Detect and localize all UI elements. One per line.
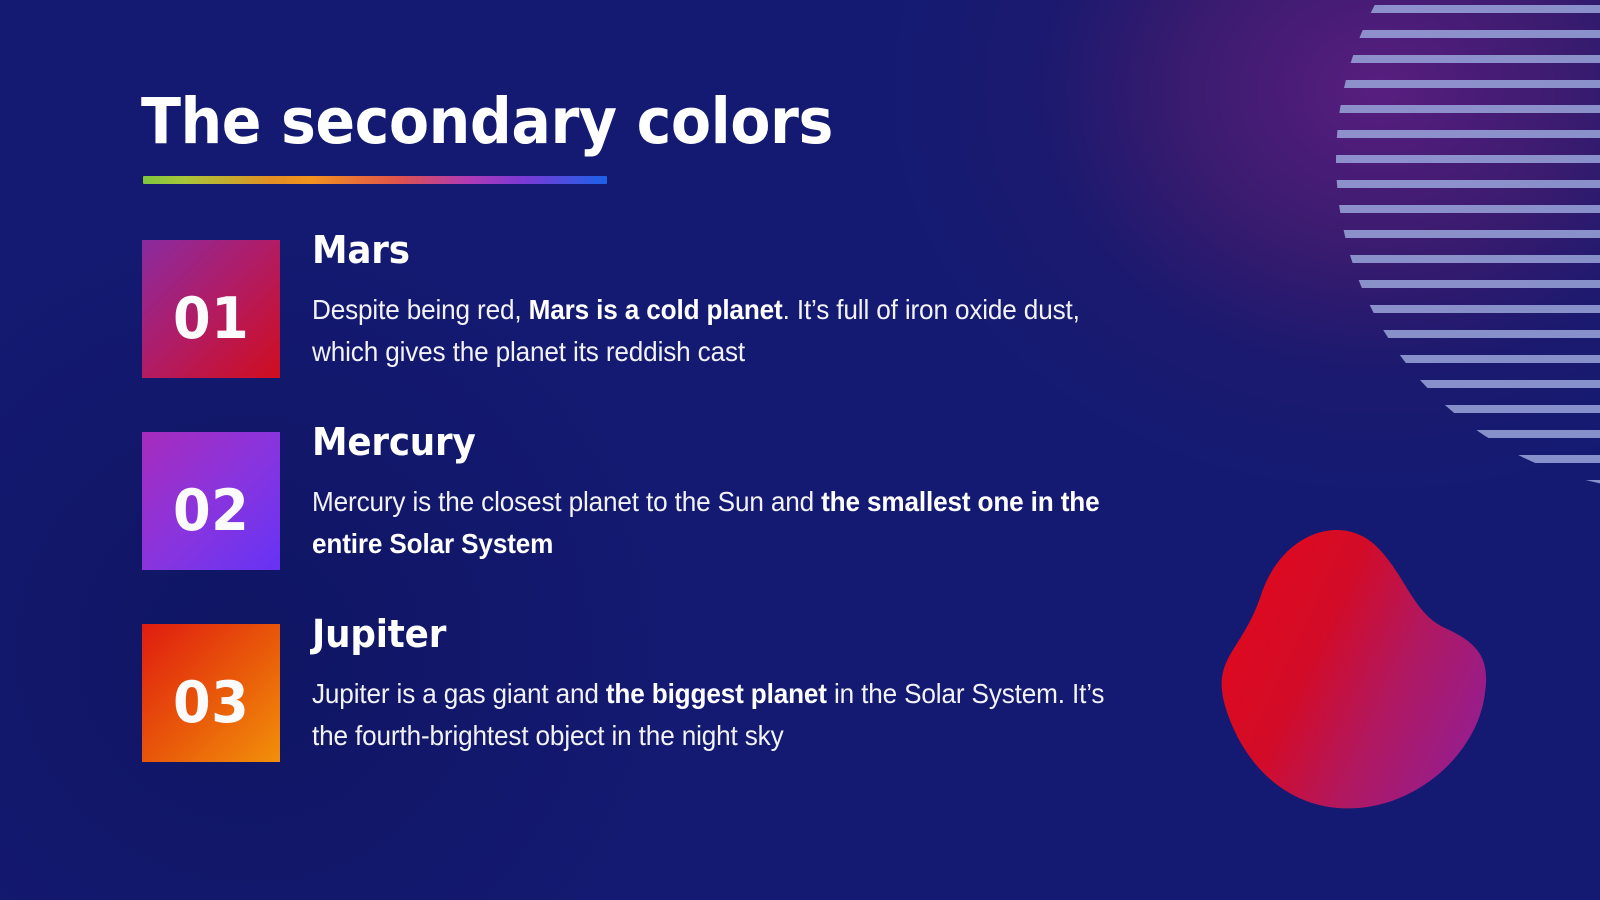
title-accent-rule — [143, 176, 607, 184]
blob-shape — [1222, 530, 1486, 808]
item-number-badge: 02 — [142, 432, 280, 570]
page-title: The secondary colors — [141, 85, 833, 158]
item-heading: Mercury — [312, 423, 1102, 463]
item-body: Mercury is the closest planet to the Sun… — [312, 481, 1110, 565]
item-text-block: Mercury Mercury is the closest planet to… — [312, 423, 1152, 565]
presentation-slide: The secondary colors 01 Mars Despite bei… — [0, 0, 1600, 900]
item-heading: Jupiter — [312, 615, 1102, 655]
item-heading: Mars — [312, 231, 1102, 271]
item-number-badge: 01 — [142, 240, 280, 378]
gradient-blob-decoration — [1190, 503, 1535, 813]
striped-circle-decoration — [1336, 0, 1600, 490]
item-body: Despite being red, Mars is a cold planet… — [312, 289, 1110, 373]
item-body: Jupiter is a gas giant and the biggest p… — [312, 673, 1110, 757]
item-text-block: Jupiter Jupiter is a gas giant and the b… — [312, 615, 1152, 757]
item-number-label: 03 — [173, 675, 249, 762]
item-number-label: 01 — [173, 291, 249, 378]
item-number-label: 02 — [173, 483, 249, 570]
item-number-badge: 03 — [142, 624, 280, 762]
circle-stripes — [1336, 0, 1600, 490]
item-text-block: Mars Despite being red, Mars is a cold p… — [312, 231, 1152, 373]
